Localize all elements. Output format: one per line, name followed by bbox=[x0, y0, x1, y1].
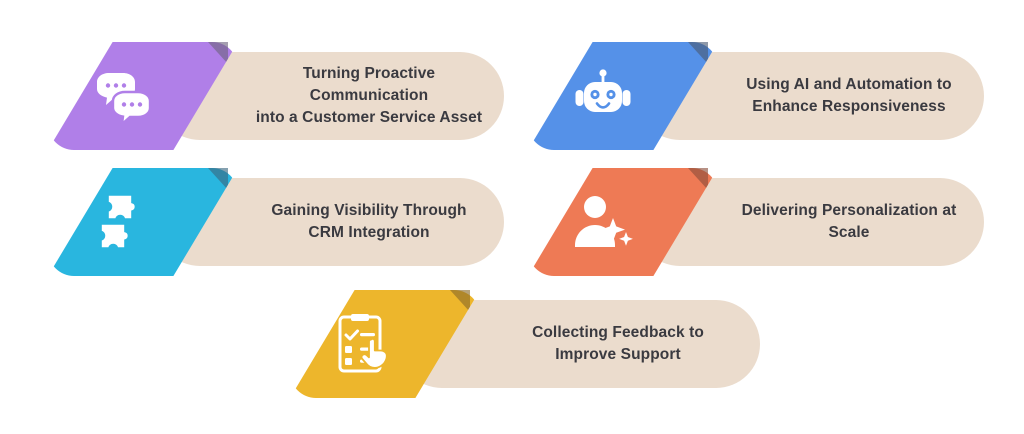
card-fold-notch bbox=[208, 42, 228, 64]
card-title: Using AI and Automation to Enhance Respo… bbox=[746, 74, 952, 118]
card-title: Turning Proactive Communication into a C… bbox=[252, 63, 486, 129]
card-fold-notch bbox=[688, 168, 708, 190]
card-collecting-feedback[interactable]: Collecting Feedback to Improve Support bbox=[290, 290, 760, 398]
card-personalization-at-scale[interactable]: Delivering Personalization at Scale bbox=[528, 168, 984, 276]
card-proactive-communication[interactable]: Turning Proactive Communication into a C… bbox=[48, 42, 504, 150]
card-title: Delivering Personalization at Scale bbox=[732, 200, 966, 244]
card-ai-automation[interactable]: Using AI and Automation to Enhance Respo… bbox=[528, 42, 984, 150]
card-fold-notch bbox=[688, 42, 708, 64]
card-crm-integration[interactable]: Gaining Visibility Through CRM Integrati… bbox=[48, 168, 504, 276]
card-fold-notch bbox=[450, 290, 470, 312]
card-fold-notch bbox=[208, 168, 228, 190]
card-title: Collecting Feedback to Improve Support bbox=[532, 322, 704, 366]
infographic-board: Turning Proactive Communication into a C… bbox=[0, 0, 1024, 434]
card-title: Gaining Visibility Through CRM Integrati… bbox=[271, 200, 466, 244]
